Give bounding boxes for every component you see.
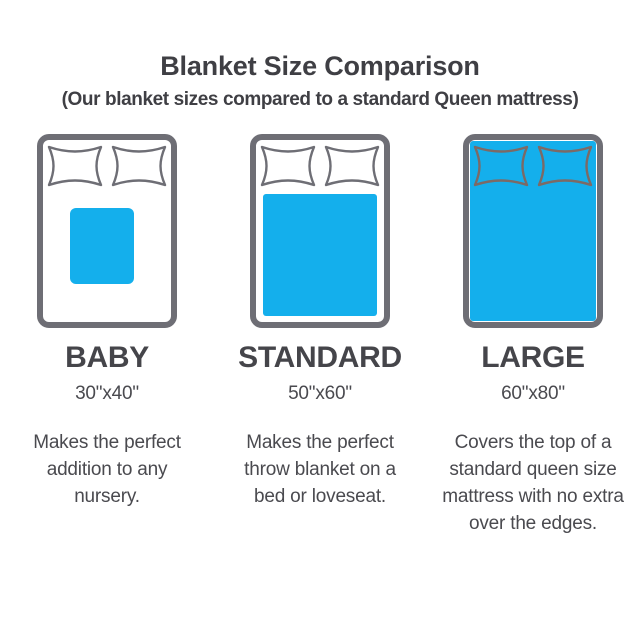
pillow-right-icon <box>326 147 378 185</box>
size-column-large: LARGE 60"x80" Covers the top of a standa… <box>427 133 640 538</box>
size-column-standard: STANDARD 50"x60" Makes the perfect throw… <box>214 133 427 510</box>
size-description-baby: Makes the perfect addition to any nurser… <box>14 429 200 510</box>
size-dimensions-large: 60"x80" <box>501 384 565 403</box>
bed-diagram-baby <box>37 133 177 329</box>
size-description-standard: Makes the perfect throw blanket on a bed… <box>227 429 413 510</box>
blanket-area-large <box>470 141 596 321</box>
bed-diagram-standard <box>250 133 390 329</box>
blanket-area-standard <box>263 194 377 316</box>
infographic-header: Blanket Size Comparison (Our blanket siz… <box>0 0 640 111</box>
page-title: Blanket Size Comparison <box>0 52 640 82</box>
size-name-large: LARGE <box>481 343 585 373</box>
size-description-large: Covers the top of a standard queen size … <box>440 429 626 538</box>
size-name-standard: STANDARD <box>238 343 402 373</box>
page-subtitle: (Our blanket sizes compared to a standar… <box>0 89 640 111</box>
size-column-baby: BABY 30"x40" Makes the perfect addition … <box>1 133 214 510</box>
size-dimensions-baby: 30"x40" <box>75 384 139 403</box>
bed-diagram-large <box>463 133 603 329</box>
pillow-left-icon <box>49 147 101 185</box>
blanket-area-baby <box>70 208 134 284</box>
size-dimensions-standard: 50"x60" <box>288 384 352 403</box>
pillow-right-icon <box>113 147 165 185</box>
size-comparison-columns: BABY 30"x40" Makes the perfect addition … <box>0 133 640 538</box>
pillow-left-icon <box>262 147 314 185</box>
size-name-baby: BABY <box>65 343 149 373</box>
